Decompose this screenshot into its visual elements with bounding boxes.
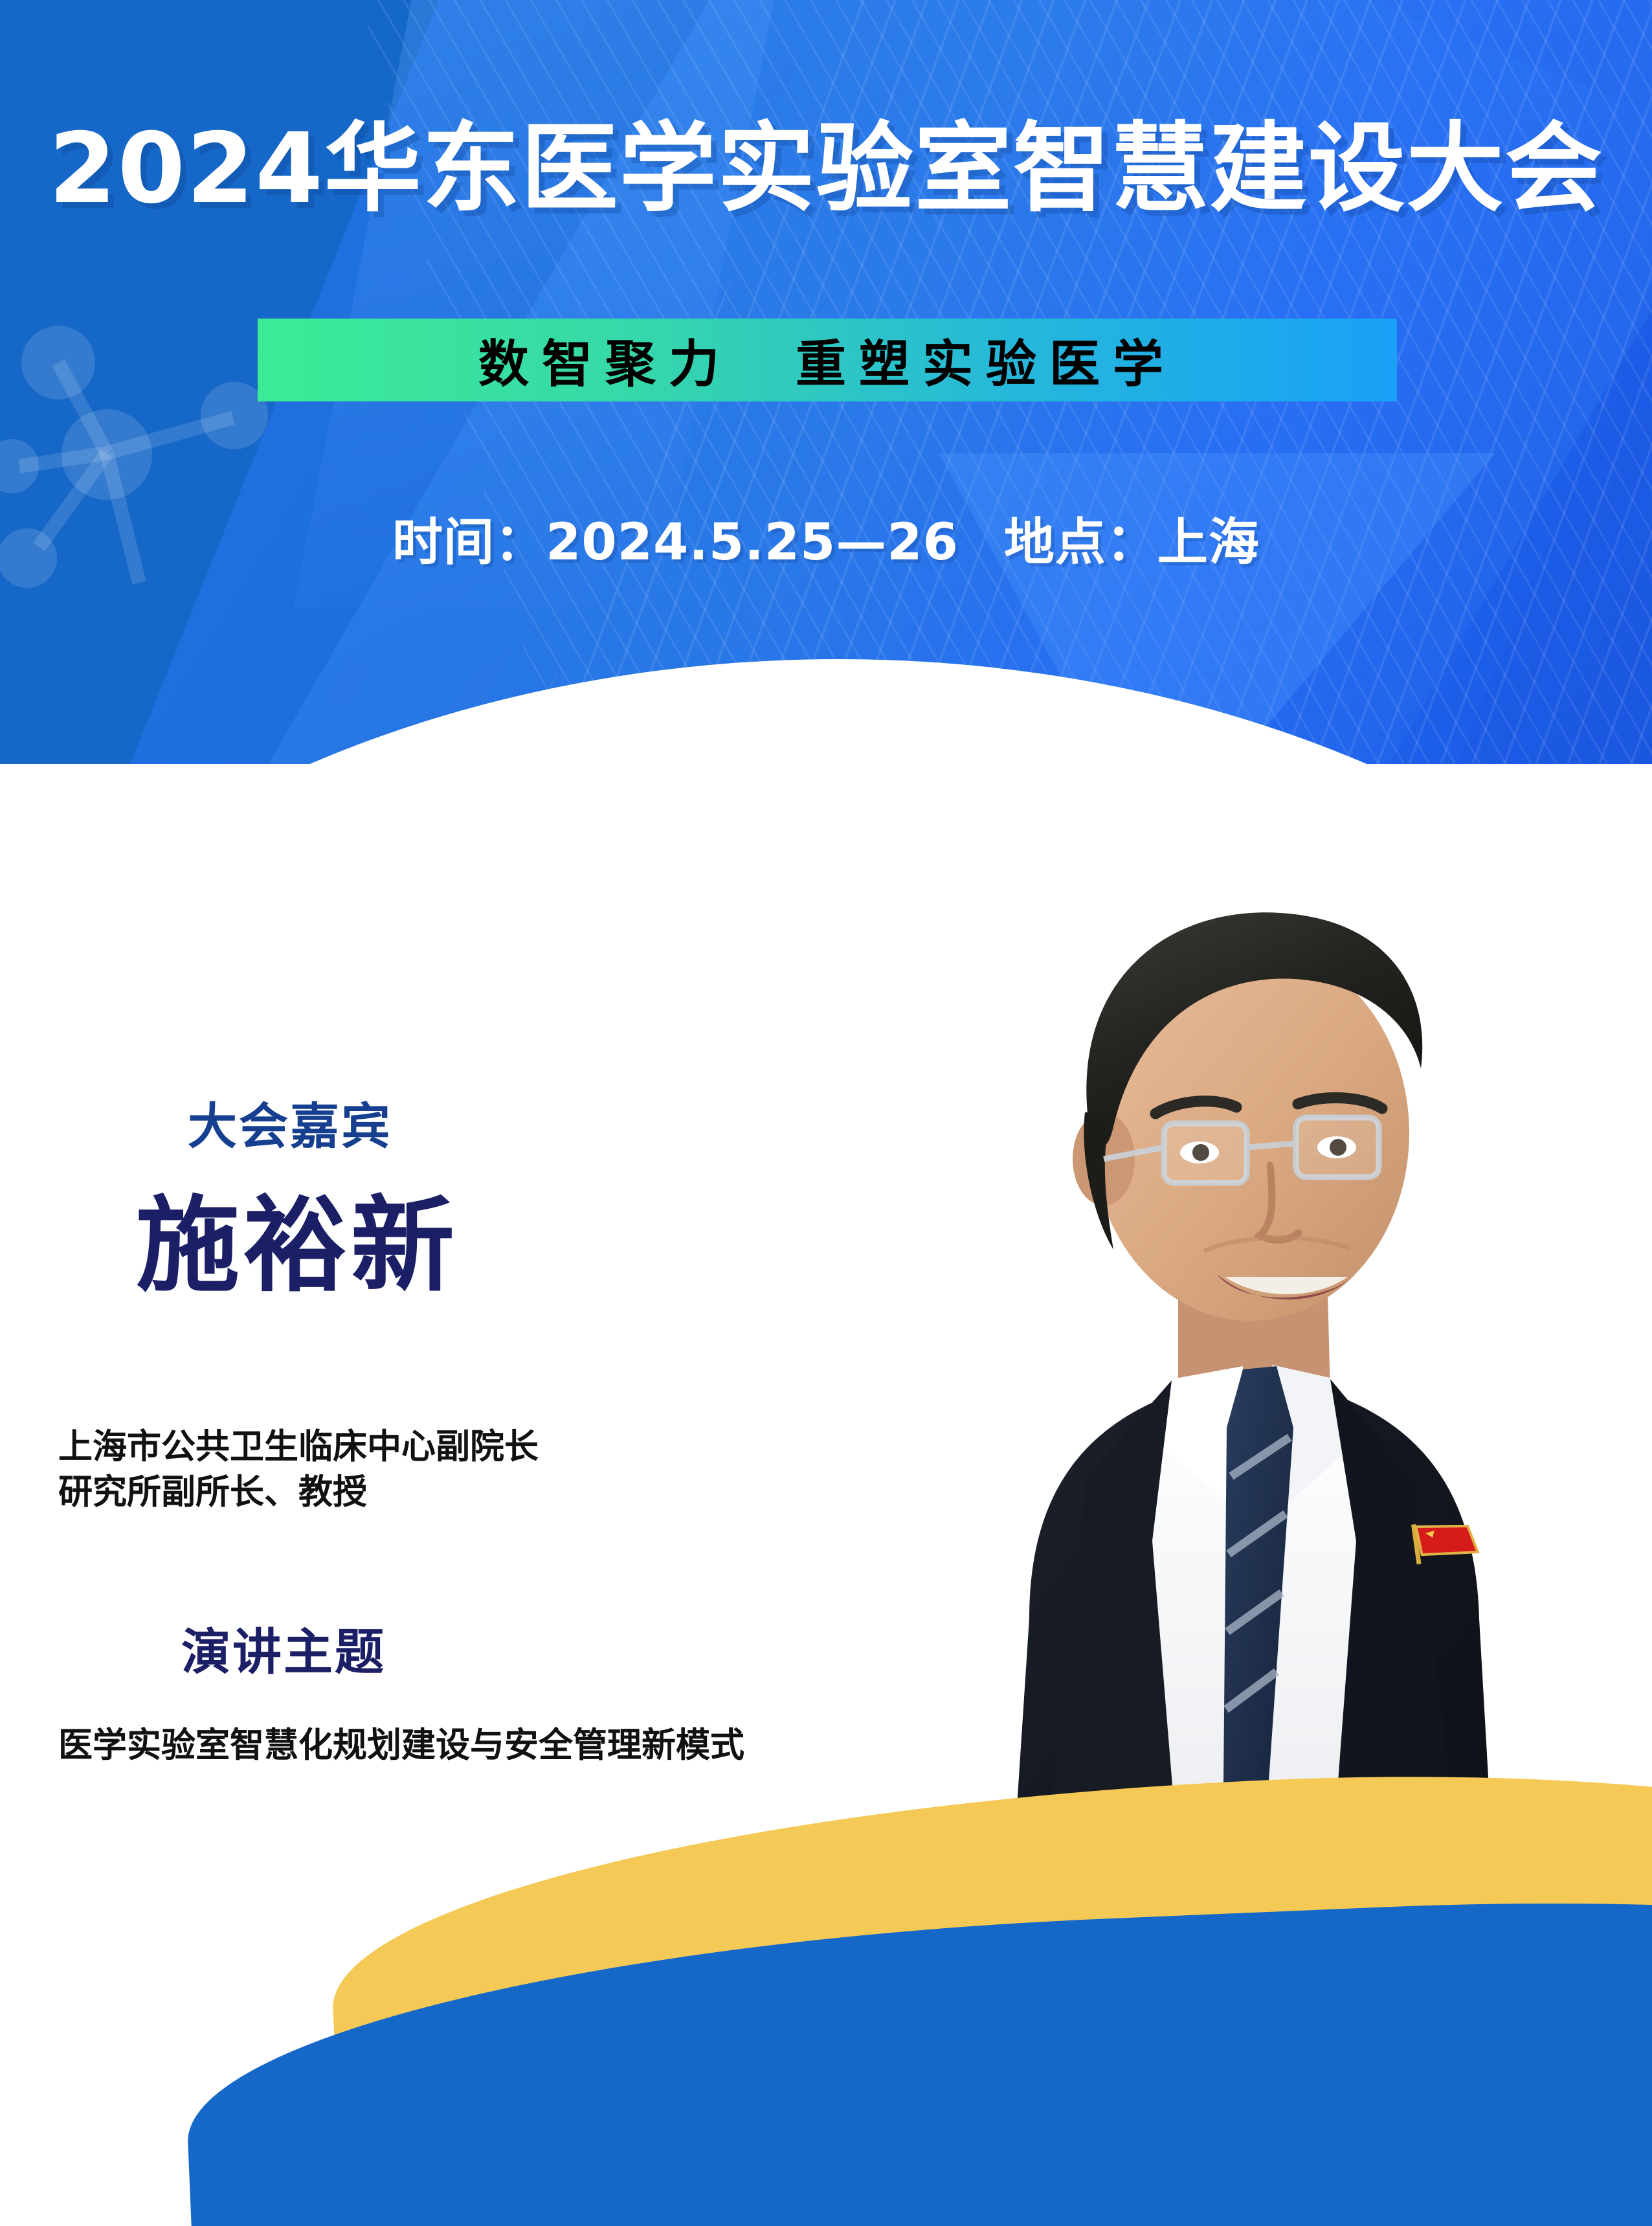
guest-affiliation-line1: 上海市公共卫生临床中心副院长 bbox=[58, 1424, 783, 1470]
topic-section-label: 演讲主题 bbox=[181, 1612, 386, 1683]
event-meta: 时间：2024.5.25—26地点：上海 bbox=[0, 502, 1652, 574]
event-time: 时间：2024.5.25—26 bbox=[392, 513, 959, 572]
guest-section-label: 大会嘉宾 bbox=[188, 1086, 392, 1158]
subtitle-banner: 数智聚力 重塑实验医学 bbox=[258, 319, 1397, 401]
conference-poster: 2024华东医学实验室智慧建设大会 数智聚力 重塑实验医学 时间：2024.5.… bbox=[0, 0, 1652, 2226]
event-location: 地点：上海 bbox=[1004, 513, 1260, 572]
page-title: 2024华东医学实验室智慧建设大会 bbox=[0, 120, 1652, 218]
guest-affiliation: 上海市公共卫生临床中心副院长 研究所副所长、教授 bbox=[58, 1424, 783, 1515]
subtitle-text: 数智聚力 重塑实验医学 bbox=[478, 324, 1176, 396]
topic-title: 医学实验室智慧化规划建设与安全管理新模式 bbox=[58, 1722, 744, 1768]
guest-affiliation-line2: 研究所副所长、教授 bbox=[58, 1470, 783, 1515]
guest-name: 施裕新 bbox=[136, 1191, 458, 1300]
poster-header: 2024华东医学实验室智慧建设大会 数智聚力 重塑实验医学 时间：2024.5.… bbox=[0, 0, 1652, 764]
